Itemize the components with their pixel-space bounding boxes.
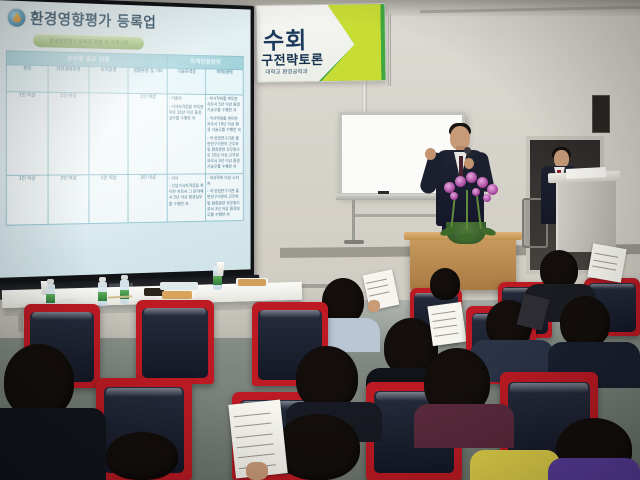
table-leg [18,310,23,332]
water-bottle [120,280,129,304]
bottle-label [46,294,55,303]
orchid-leaf [458,234,474,241]
orchid-flower [472,188,480,196]
slide-title: 환경영향평가 등록업 [30,7,156,32]
col-header-certificate: 기술자격증 [168,68,206,94]
col-header-land: 토지환경 [89,66,129,93]
globe-logo-icon [8,8,26,26]
cell-total: 1인 이상 [6,175,48,226]
lecture-hall-photo: 수회 구전략토론 대학교 환경공학과 [0,0,640,480]
orchid-flower [450,192,458,200]
table-row: 1인 이상 2인 이상 1인 이상 3인 이상 - 기사 - 산업기사자격증을 … [6,173,243,225]
orchid-flower [466,172,477,183]
presenter-left-hand [425,148,436,160]
snack-cookies [238,279,266,286]
wall-speaker-box-icon [592,95,610,133]
col-header-career: 학력/경력 [206,69,243,95]
orchid-flower [477,177,488,188]
attendee-head [276,414,360,480]
wooden-flower-stand [410,238,516,290]
attendee-head [4,344,74,418]
attendee-head [296,346,358,410]
cell-career: - 석사학위 이상 소지자 - 국·공립연구기관 출연연구기관의 근무자 및 환… [206,173,243,221]
bullet: - 국·공립연구기관 출연연구기관의 근무자 및 환경관련 공무원으로 10년 … [207,135,242,170]
slide-section-label: 환경영향평가 등록업 현황 및 자격기준 [50,37,129,46]
event-banner: 수회 구전략토론 대학교 환경공학과 [255,3,386,83]
orchid-flower [483,194,491,202]
seat [136,300,214,384]
snack-cookies [162,291,192,299]
attendee-shoulders [414,404,514,448]
bottle-label [98,292,107,301]
bottle-cap [121,275,128,280]
bullet: - 국·공립연구기관 출연연구기관의 근무자 및 환경관련 공무원으로서 3년 … [207,188,242,217]
cell-nature: 1인 이상 [48,92,89,174]
attendee-shoulders [470,450,560,480]
orchid-flower [455,176,466,187]
group-header-qualification: 자격인정범위 [168,55,244,70]
cell-living: 1인 이상 [128,93,167,174]
bullet: - 기사 [169,175,205,181]
table-column-header-row: 총원 자연생태환경 토지환경 생활환경 및 기타 기술자격증 학력/경력 [6,65,243,95]
presentation-slide: 환경영향평가 등록업 환경영향평가 등록업 현황 및 자격기준 분야별 필요 인… [0,0,251,278]
bottle-cap [99,277,106,282]
cell-career: - 박사학위를 취득한 자로서 5년 이상 환경 기술무를 수행한 자 - 석사… [206,94,243,173]
podium [556,178,616,252]
col-header-nature: 자연생태환경 [48,66,89,93]
handout [427,302,466,346]
table-row: 1인 이상 1인 이상 1인 이상 - 기술사 - 기사자격증을 취득한 자로 … [6,92,243,175]
attendee-hand [368,300,380,312]
cell-nature: 2인 이상 [48,174,89,224]
attendee-head [106,432,178,480]
bottle-cap [47,279,54,284]
water-bottle [98,282,107,306]
snack-plate [160,282,198,290]
bullet: - 석사학위를 취득한 자로서 10년 이상 환경 기술무를 수행한 자 [207,116,242,133]
bullet: - 기사자격증을 취득한 자로 10년 이상 환경실무를 수행한 자 [169,104,205,122]
presenter-tie [459,156,463,176]
presenter-right-hand [464,158,474,169]
attendee-head [430,268,460,300]
cell-total: 1인 이상 [6,92,48,175]
banner-title-line2: 구전략토론 [261,49,324,69]
cell-land [89,93,129,175]
bullet: - 산업기사자격증을 취득한 자로서 그 분야에서 5년 이상 환경실무를 수행… [169,183,205,207]
whiteboard-marker-icon [378,191,389,194]
banner-hanging-rod [388,14,391,86]
attendee-hand [246,462,268,480]
col-header-total: 총원 [6,65,48,92]
col-header-living: 생활환경 및 기타 [128,67,167,94]
handout [587,243,626,282]
attendee-shoulders [548,458,640,480]
cell-land: 1인 이상 [89,174,129,224]
bullet: - 기술사 [169,95,205,101]
attendee-shoulders [0,408,106,480]
cell-certificate: - 기사 - 산업기사자격증을 취득한 자로서 그 분야에서 5년 이상 환경실… [168,174,206,223]
banner-subtitle: 대학교 환경공학과 [265,67,307,76]
projection-screen: 환경영향평가 등록업 환경영향평가 등록업 현황 및 자격기준 분야별 필요 인… [0,0,261,296]
bullet: - 석사학위 이상 소지자 [207,175,242,187]
cell-living: 3인 이상 [128,174,167,223]
slide-table: 분야별 필요 인원 자격인정범위 총원 자연생태환경 토지환경 생활환경 및 기… [6,50,244,226]
whiteboard-foot-left [344,240,364,244]
microphone-head-icon [464,147,471,154]
bullet: - 박사학위를 취득한 자로서 5년 이상 환경 기술무를 수행한 자 [207,96,242,114]
bottle-label [213,276,222,285]
cell-certificate: - 기술사 - 기사자격증을 취득한 자로 10년 이상 환경실무를 수행한 자 [168,94,206,174]
orchid-flower [487,184,498,195]
attendee-head [560,296,610,348]
whiteboard-leg-left [352,200,355,244]
screen-surface: 환경영향평가 등록업 환경영향평가 등록업 현황 및 자격기준 분야별 필요 인… [0,0,251,278]
banner-lime-swoosh [302,3,381,83]
orchid-stem [466,190,468,230]
podium-papers [566,167,606,179]
slide-section-bar: 환경영향평가 등록업 현황 및 자격기준 [33,33,144,50]
